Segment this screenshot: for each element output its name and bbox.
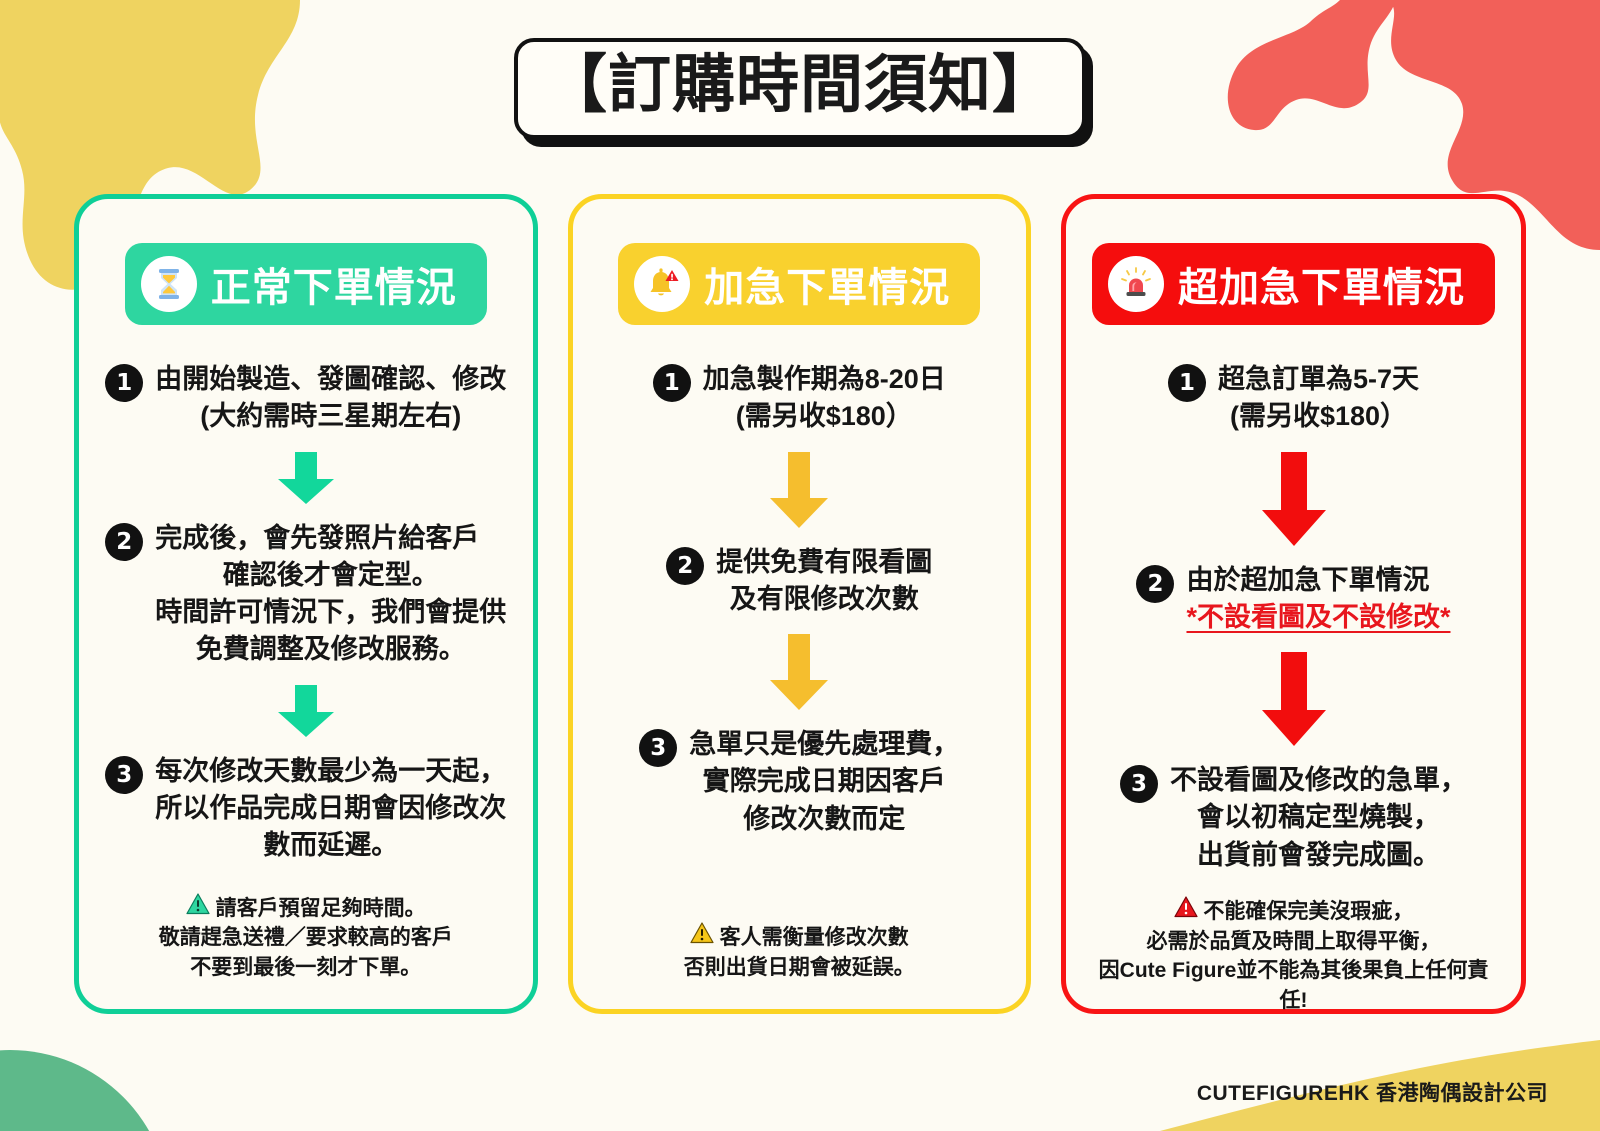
step-line: (需另收$180）	[1218, 398, 1419, 435]
step-number: 2	[105, 523, 143, 561]
step-number: 1	[105, 364, 143, 402]
note-line: 客人需衡量修改次數	[720, 926, 909, 949]
step-text: 完成後，會先發照片給客戶 確認後才會定型。 時間許可情況下，我們會提供 免費調整…	[155, 520, 506, 669]
step-text: 不設看圖及修改的急單， 會以初稿定型燒製， 出貨前會發完成圖。	[1170, 762, 1467, 874]
step-line: 免費調整及修改服務。	[155, 631, 506, 668]
step-normal-1: 1 由開始製造、發圖確認、修改 (大約需時三星期左右)	[105, 361, 507, 436]
step-line: 時間許可情況下，我們會提供	[155, 594, 506, 631]
step-line: 提供免費有限看圖	[716, 544, 932, 581]
note-line: 敬請趕急送禮／要求較高的客戶	[159, 923, 453, 953]
arrow-down-icon	[1092, 652, 1495, 746]
step-line: 實際完成日期因客戶	[689, 763, 959, 800]
step-text: 提供免費有限看圖 及有限修改次數	[716, 544, 932, 619]
note-normal: 請客戶預留足夠時間。 敬請趕急送禮／要求較高的客戶 不要到最後一刻才下單。	[159, 871, 453, 983]
step-line: 由開始製造、發圖確認、修改	[155, 361, 506, 398]
step-line: 由於超加急下單情況	[1186, 562, 1450, 599]
note-super-urgent: 不能確保完美沒瑕疵， 必需於品質及時間上取得平衡， 因Cute Figure並不…	[1092, 874, 1495, 1016]
step-number: 3	[1120, 765, 1158, 803]
card-title-super-urgent: 超加急下單情況	[1178, 255, 1465, 313]
step-urgent-3: 3 急單只是優先處理費， 實際完成日期因客戶 修改次數而定	[599, 726, 1001, 838]
step-line: 確認後才會定型。	[155, 557, 506, 594]
cards-container: 正常下單情況 1 由開始製造、發圖確認、修改 (大約需時三星期左右) 2 完成後…	[74, 194, 1526, 1014]
arrow-down-icon	[599, 634, 1001, 710]
note-line: 否則出貨日期會被延誤。	[684, 953, 915, 983]
siren-icon	[1108, 256, 1164, 312]
card-header-normal: 正常下單情況	[125, 243, 487, 325]
page-title: 【訂購時間須知】	[544, 50, 1056, 121]
step-line: 所以作品完成日期會因修改次	[155, 790, 506, 827]
arrow-down-icon	[1092, 452, 1495, 546]
step-text: 由於超加急下單情況 *不設看圖及不設修改*	[1186, 562, 1450, 637]
step-line: 修改次數而定	[689, 801, 959, 838]
card-header-urgent: 加急下單情況	[618, 243, 980, 325]
step-super-urgent-3: 3 不設看圖及修改的急單， 會以初稿定型燒製， 出貨前會發完成圖。	[1092, 762, 1495, 874]
warning-triangle-icon	[1174, 896, 1198, 918]
step-line: 會以初稿定型燒製，	[1170, 799, 1467, 836]
step-text: 由開始製造、發圖確認、修改 (大約需時三星期左右)	[155, 361, 506, 436]
step-line: 及有限修改次數	[716, 581, 932, 618]
step-number: 2	[666, 547, 704, 585]
step-number: 1	[1168, 364, 1206, 402]
step-normal-2: 2 完成後，會先發照片給客戶 確認後才會定型。 時間許可情況下，我們會提供 免費…	[105, 520, 507, 669]
step-super-urgent-2: 2 由於超加急下單情況 *不設看圖及不設修改*	[1092, 562, 1495, 637]
card-normal-order: 正常下單情況 1 由開始製造、發圖確認、修改 (大約需時三星期左右) 2 完成後…	[74, 194, 538, 1014]
step-text: 加急製作期為8-20日 (需另收$180）	[703, 361, 946, 436]
bell-alert-icon	[634, 256, 690, 312]
step-number: 3	[105, 756, 143, 794]
step-line: 完成後，會先發照片給客戶	[155, 520, 506, 557]
warning-triangle-icon	[690, 922, 714, 944]
arrow-down-icon	[105, 685, 507, 737]
arrow-down-icon	[105, 452, 507, 504]
warning-triangle-icon	[186, 893, 210, 915]
note-line: 必需於品質及時間上取得平衡，	[1092, 927, 1495, 957]
step-line: 每次修改天數最少為一天起，	[155, 753, 506, 790]
step-number: 3	[639, 729, 677, 767]
blob-bottom-left-green	[0, 1050, 170, 1131]
card-title-urgent: 加急下單情況	[704, 255, 950, 313]
step-line: 超急訂單為5-7天	[1218, 361, 1419, 398]
step-line-highlight: *不設看圖及不設修改*	[1186, 599, 1450, 636]
step-line: (大約需時三星期左右)	[155, 398, 506, 435]
arrow-down-icon	[599, 452, 1001, 528]
step-line: 出貨前會發完成圖。	[1170, 837, 1467, 874]
note-line: 因Cute Figure並不能為其後果負上任何責任!	[1092, 956, 1495, 1016]
step-text: 超急訂單為5-7天 (需另收$180）	[1218, 361, 1419, 436]
step-line: 急單只是優先處理費，	[689, 726, 959, 763]
note-line: 不能確保完美沒瑕疵，	[1203, 900, 1413, 923]
step-line: 加急製作期為8-20日	[703, 361, 946, 398]
page-title-container: 【訂購時間須知】	[0, 38, 1600, 139]
step-line: (需另收$180）	[703, 398, 946, 435]
brand-footer: CUTEFIGUREHK 香港陶偶設計公司	[1197, 1077, 1548, 1107]
note-urgent: 客人需衡量修改次數 否則出貨日期會被延誤。	[684, 900, 915, 983]
card-super-urgent-order: 超加急下單情況 1 超急訂單為5-7天 (需另收$180） 2 由於超加急下單情…	[1061, 194, 1526, 1014]
step-number: 1	[653, 364, 691, 402]
note-line: 請客戶預留足夠時間。	[216, 897, 426, 920]
step-urgent-1: 1 加急製作期為8-20日 (需另收$180）	[599, 361, 1001, 436]
card-header-super-urgent: 超加急下單情況	[1092, 243, 1495, 325]
card-title-normal: 正常下單情況	[211, 255, 457, 313]
step-line: 不設看圖及修改的急單，	[1170, 762, 1467, 799]
card-urgent-order: 加急下單情況 1 加急製作期為8-20日 (需另收$180） 2 提供免費有限看…	[568, 194, 1032, 1014]
step-urgent-2: 2 提供免費有限看圖 及有限修改次數	[599, 544, 1001, 619]
page-title-box: 【訂購時間須知】	[514, 38, 1086, 139]
step-number: 2	[1136, 565, 1174, 603]
step-text: 急單只是優先處理費， 實際完成日期因客戶 修改次數而定	[689, 726, 959, 838]
step-line: 數而延遲。	[155, 827, 506, 864]
step-text: 每次修改天數最少為一天起， 所以作品完成日期會因修改次 數而延遲。	[155, 753, 506, 865]
step-super-urgent-1: 1 超急訂單為5-7天 (需另收$180）	[1092, 361, 1495, 436]
note-line: 不要到最後一刻才下單。	[159, 953, 453, 983]
step-normal-3: 3 每次修改天數最少為一天起， 所以作品完成日期會因修改次 數而延遲。	[105, 753, 507, 865]
hourglass-icon	[141, 256, 197, 312]
